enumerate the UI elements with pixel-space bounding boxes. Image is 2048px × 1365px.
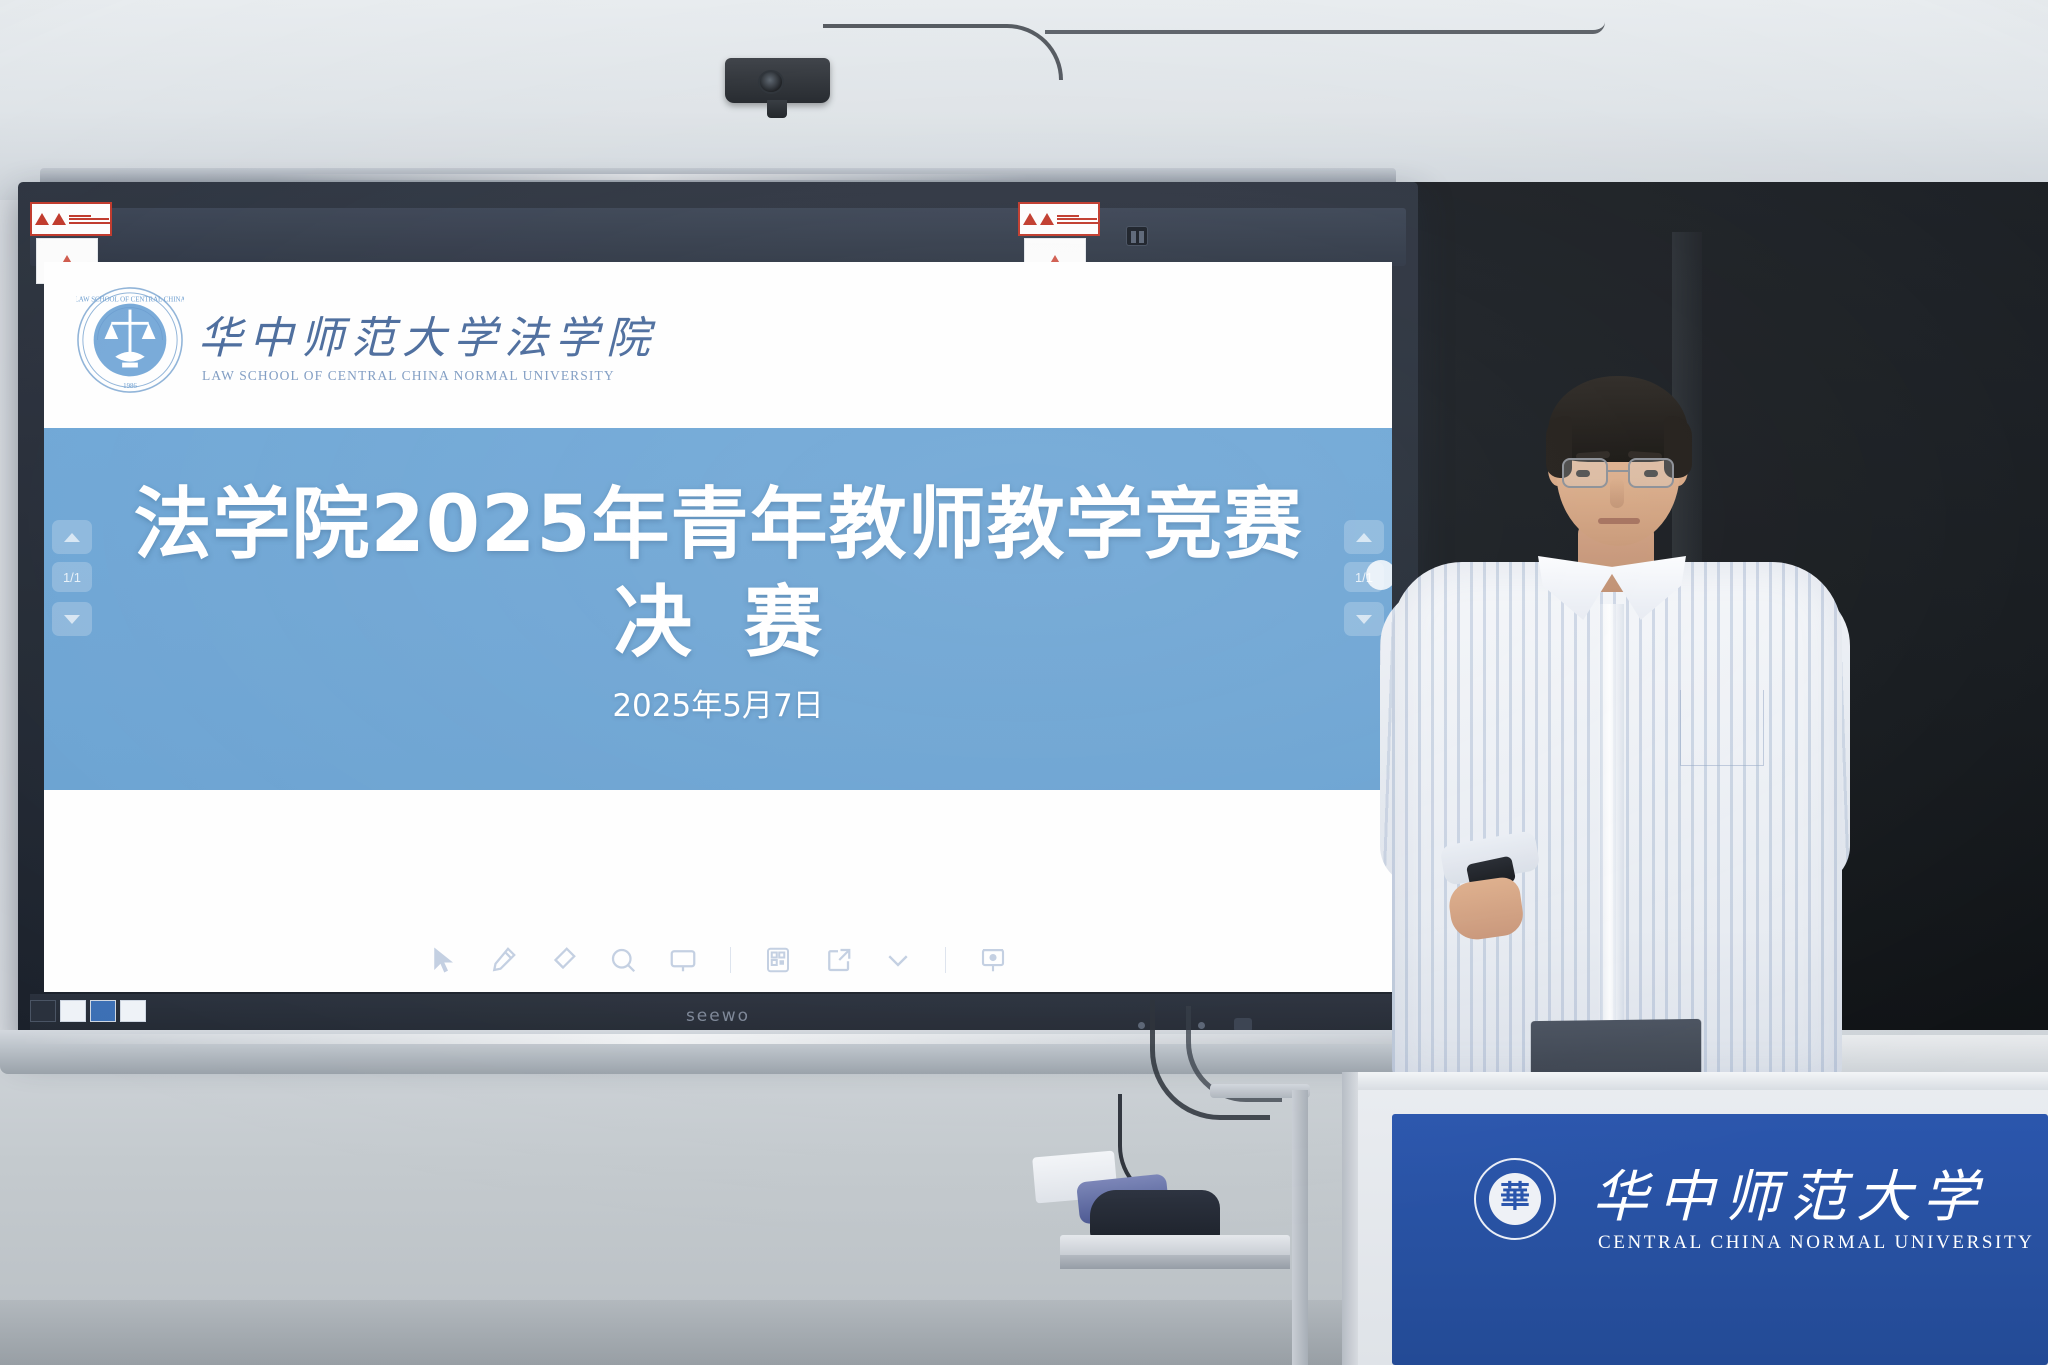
warning-triangle-icon [1040,213,1054,225]
board-bezel-top [30,208,1406,266]
board-top-sheen [270,174,1030,180]
board-frame: LAW SCHOOL OF CENTRAL CHINA 1986 华中师范大学法… [18,182,1418,1042]
law-school-name-en: LAW SCHOOL OF CENTRAL CHINA NORMAL UNIVE… [202,368,615,384]
warning-label-right [1018,202,1100,236]
camera-lens-icon [758,70,784,94]
shirt-placket [1598,604,1624,1024]
share-icon[interactable] [821,943,855,977]
presenter [1380,360,1850,1080]
chevron-down-icon [64,615,80,624]
university-seal-inner: 華 [1489,1173,1541,1225]
chevron-down-icon [1356,615,1372,624]
warning-triangle-icon [35,213,49,225]
slide-prev-page-button-right[interactable] [1344,520,1384,554]
magnifier-icon[interactable] [606,943,640,977]
interactive-whiteboard[interactable]: LAW SCHOOL OF CENTRAL CHINA 1986 华中师范大学法… [18,168,1418,1048]
ceiling-camera [715,22,845,117]
lectern: 華 华中师范大学 CENTRAL CHINA NORMAL UNIVERSITY [1220,1038,2048,1365]
camera-cable-run [1045,22,1605,34]
presentation-slide: LAW SCHOOL OF CENTRAL CHINA 1986 华中师范大学法… [44,262,1392,992]
classroom-scene: LAW SCHOOL OF CENTRAL CHINA 1986 华中师范大学法… [0,0,2048,1365]
glasses-lens-right [1628,458,1674,488]
mouth [1598,518,1640,524]
camera-cable [823,24,1063,80]
slide-page-indicator-left: 1/1 [52,562,92,592]
shirt-pocket [1680,690,1764,766]
toolbar-divider [730,947,731,973]
warning-label-left [30,202,112,236]
law-school-seal-icon: LAW SCHOOL OF CENTRAL CHINA 1986 [76,286,184,394]
qrcode-icon[interactable] [761,943,795,977]
law-school-name-cn: 华中师范大学法学院 [198,302,657,366]
university-name-cn: 华中师范大学 [1592,1152,1988,1233]
board-sensor-icon [1126,226,1148,246]
camera-mount [767,100,787,118]
law-school-logo: LAW SCHOOL OF CENTRAL CHINA 1986 华中师范大学法… [76,280,546,410]
cursor-icon[interactable] [426,943,460,977]
university-seal-glyph: 華 [1489,1181,1541,1215]
board-led-icon [1138,1022,1145,1029]
chevron-up-icon [64,533,80,542]
nose [1610,478,1624,508]
slide-next-page-button[interactable] [52,602,92,636]
warning-text-lines [1057,215,1100,224]
slide-date: 2025年5月7日 [44,680,1392,725]
university-seal-icon: 華 [1474,1158,1556,1240]
glasses-lens-left [1562,458,1608,488]
screen-icon[interactable] [666,943,700,977]
lectern-branding-panel: 華 华中师范大学 CENTRAL CHINA NORMAL UNIVERSITY [1392,1114,2048,1365]
warning-triangle-icon [1023,213,1037,225]
chevron-down-icon[interactable] [881,943,915,977]
board-toolbar[interactable] [44,928,1392,992]
slide-title-line2: 决赛 [44,560,1392,672]
university-name-en: CENTRAL CHINA NORMAL UNIVERSITY [1598,1232,2035,1254]
board-screen[interactable]: LAW SCHOOL OF CENTRAL CHINA 1986 华中师范大学法… [44,262,1392,992]
lectern-left-column [1342,1072,1358,1365]
warning-triangle-icon [52,213,66,225]
svg-text:LAW SCHOOL OF CENTRAL CHINA: LAW SCHOOL OF CENTRAL CHINA [76,297,184,304]
slide-next-page-button-right[interactable] [1344,602,1384,636]
warning-text-lines [69,215,112,224]
toolbar-divider [945,947,946,973]
svg-text:1986: 1986 [123,383,137,390]
present-icon[interactable] [976,943,1010,977]
glasses-bridge [1607,470,1629,472]
eraser-icon[interactable] [546,943,580,977]
slide-prev-page-button[interactable] [52,520,92,554]
slide-title-line1: 法学院2025年青年教师教学竞赛 [44,462,1392,574]
chevron-up-icon [1356,533,1372,542]
pen-icon[interactable] [486,943,520,977]
